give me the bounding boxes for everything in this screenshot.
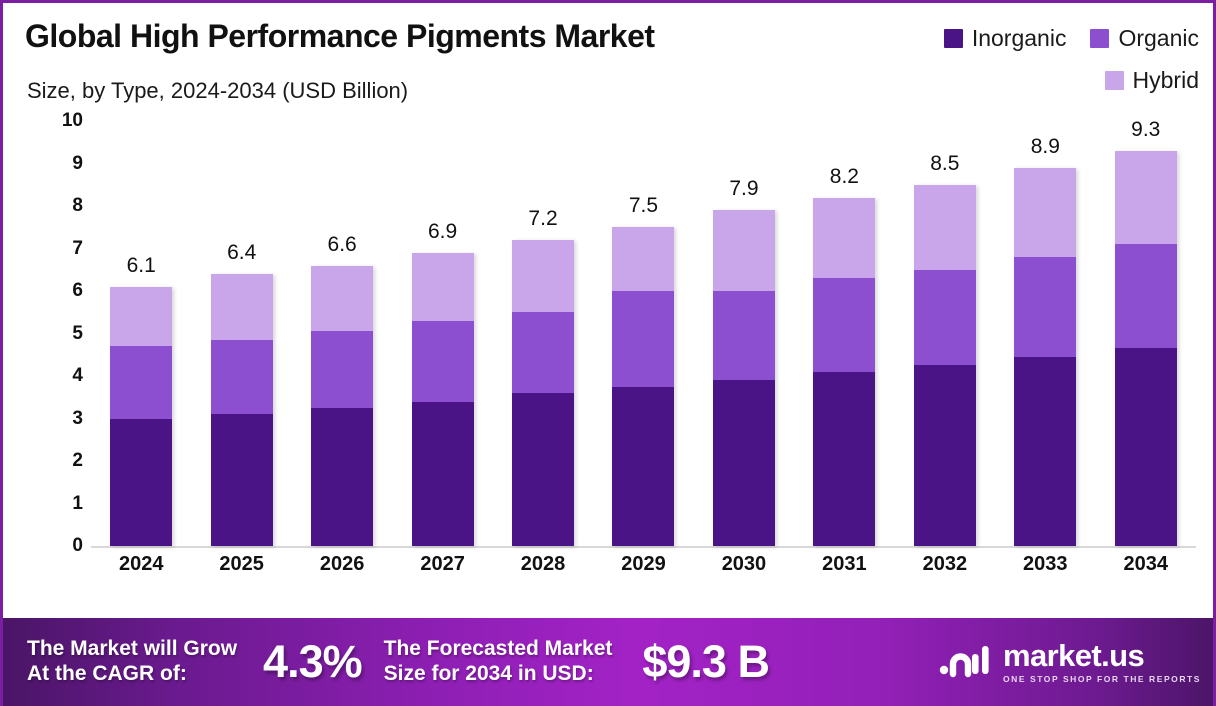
y-axis-tick-2: 2 [41,450,83,472]
legend-label: Hybrid [1133,67,1199,94]
logo-tagline: ONE STOP SHOP FOR THE REPORTS [1003,675,1201,684]
chart-legend: InorganicOrganicHybrid [869,23,1199,95]
y-axis-tick-3: 3 [41,408,83,430]
bar-total-label: 8.2 [830,165,859,189]
stacked-bar[interactable] [311,266,373,547]
stacked-bar[interactable] [612,227,674,546]
x-axis-tick-2031: 2031 [800,553,888,576]
bar-total-label: 6.9 [428,220,457,244]
market-us-bars-logo-icon [939,640,993,685]
cagr-label-line1: The Market will Grow [27,637,237,662]
x-axis-tick-2027: 2027 [399,553,487,576]
bar-segment-inorganic[interactable] [813,372,875,546]
forecast-label-line1: The Forecasted Market [384,637,613,662]
stacked-bar[interactable] [412,253,474,546]
bar-segment-organic[interactable] [311,331,373,408]
bar-segment-hybrid[interactable] [1014,168,1076,257]
bar-segment-inorganic[interactable] [512,393,574,546]
cagr-label: The Market will Grow At the CAGR of: [27,637,237,687]
bar-group-2028[interactable]: 7.2 [499,121,587,546]
legend-item-organic[interactable]: Organic [1090,23,1199,53]
stacked-bar[interactable] [1115,151,1177,546]
cagr-value: 4.3% [263,636,362,688]
bar-segment-organic[interactable] [211,340,273,414]
legend-swatch-hybrid-icon [1105,71,1124,90]
y-axis-tick-9: 9 [41,153,83,175]
bar-segment-inorganic[interactable] [713,380,775,546]
stacked-bar[interactable] [211,274,273,546]
y-axis-tick-5: 5 [41,323,83,345]
bar-segment-hybrid[interactable] [914,185,976,270]
legend-swatch-inorganic-icon [944,29,963,48]
stacked-bar[interactable] [813,198,875,547]
bar-segment-hybrid[interactable] [311,266,373,332]
legend-item-inorganic[interactable]: Inorganic [944,23,1067,53]
bar-total-label: 9.3 [1131,118,1160,142]
x-axis-tick-2034: 2034 [1102,553,1190,576]
x-axis-tick-2029: 2029 [599,553,687,576]
bar-total-label: 8.5 [930,152,959,176]
cagr-label-line2: At the CAGR of: [27,662,237,687]
bar-segment-inorganic[interactable] [612,387,674,546]
stacked-bar[interactable] [1014,168,1076,546]
bar-segment-organic[interactable] [110,346,172,418]
chart-subtitle: Size, by Type, 2024-2034 (USD Billion) [27,78,408,104]
infographic-chart-card: Global High Performance Pigments Market … [0,0,1216,706]
bar-segment-inorganic[interactable] [1014,357,1076,546]
y-axis-tick-6: 6 [41,280,83,302]
x-axis: 2024202520262027202820292030203120322033… [91,553,1196,576]
legend-swatch-organic-icon [1090,29,1109,48]
forecast-label: The Forecasted Market Size for 2034 in U… [384,637,613,687]
y-axis-tick-1: 1 [41,493,83,515]
bar-group-2026[interactable]: 6.6 [298,121,386,546]
footer-banner: The Market will Grow At the CAGR of: 4.3… [3,618,1216,706]
bar-segment-inorganic[interactable] [1115,348,1177,546]
bar-segment-inorganic[interactable] [412,402,474,547]
bar-segment-organic[interactable] [512,312,574,393]
bar-segment-inorganic[interactable] [311,408,373,546]
bar-segment-organic[interactable] [713,291,775,380]
bar-total-label: 6.4 [227,241,256,265]
x-axis-line [91,546,1196,548]
bar-segment-hybrid[interactable] [1115,151,1177,245]
y-axis: 109876543210 [41,121,83,546]
bar-segment-organic[interactable] [412,321,474,402]
bar-segment-organic[interactable] [813,278,875,372]
bar-segment-hybrid[interactable] [713,210,775,291]
bar-segment-inorganic[interactable] [914,365,976,546]
bar-segment-inorganic[interactable] [110,419,172,547]
bar-total-label: 6.1 [127,254,156,278]
x-axis-tick-2032: 2032 [901,553,989,576]
bar-group-2027[interactable]: 6.9 [399,121,487,546]
y-axis-tick-8: 8 [41,195,83,217]
bar-group-2034[interactable]: 9.3 [1102,121,1190,546]
bar-segment-hybrid[interactable] [813,198,875,279]
y-axis-tick-4: 4 [41,365,83,387]
legend-item-hybrid[interactable]: Hybrid [1105,65,1199,95]
y-axis-tick-7: 7 [41,238,83,260]
bar-segment-hybrid[interactable] [110,287,172,347]
bar-group-2024[interactable]: 6.1 [97,121,185,546]
bar-segment-organic[interactable] [612,291,674,387]
bar-series-container: 6.16.46.66.97.27.57.98.28.58.99.3 [91,121,1196,546]
x-axis-tick-2033: 2033 [1001,553,1089,576]
bar-segment-hybrid[interactable] [512,240,574,312]
page-title: Global High Performance Pigments Market [25,18,655,55]
stacked-bar[interactable] [512,240,574,546]
bar-total-label: 7.9 [729,177,758,201]
stacked-bar[interactable] [110,287,172,546]
legend-label: Organic [1118,25,1199,52]
bar-group-2029[interactable]: 7.5 [599,121,687,546]
bar-total-label: 7.2 [528,207,557,231]
bar-group-2031[interactable]: 8.2 [800,121,888,546]
x-axis-tick-2025: 2025 [198,553,286,576]
stacked-bar[interactable] [914,185,976,546]
y-axis-tick-10: 10 [41,110,83,132]
x-axis-tick-2030: 2030 [700,553,788,576]
bar-group-2030[interactable]: 7.9 [700,121,788,546]
bar-segment-hybrid[interactable] [211,274,273,340]
bar-total-label: 6.6 [328,233,357,257]
bar-segment-hybrid[interactable] [412,253,474,321]
forecast-value: $9.3 B [642,636,769,688]
bar-total-label: 7.5 [629,194,658,218]
bar-segment-organic[interactable] [914,270,976,366]
y-axis-tick-0: 0 [41,535,83,557]
bar-segment-inorganic[interactable] [211,414,273,546]
stacked-bar[interactable] [713,210,775,546]
bar-group-2032[interactable]: 8.5 [901,121,989,546]
logo-text-block: market.us ONE STOP SHOP FOR THE REPORTS [1003,640,1201,684]
x-axis-tick-2026: 2026 [298,553,386,576]
x-axis-tick-2028: 2028 [499,553,587,576]
bar-group-2033[interactable]: 8.9 [1001,121,1089,546]
legend-label: Inorganic [972,25,1067,52]
bar-segment-organic[interactable] [1115,244,1177,348]
market-us-logo[interactable]: market.us ONE STOP SHOP FOR THE REPORTS [939,640,1207,685]
logo-wordmark: market.us [1003,638,1144,673]
bar-total-label: 8.9 [1031,135,1060,159]
forecast-label-line2: Size for 2034 in USD: [384,662,613,687]
bar-segment-hybrid[interactable] [612,227,674,291]
x-axis-tick-2024: 2024 [97,553,185,576]
bar-group-2025[interactable]: 6.4 [198,121,286,546]
bar-segment-organic[interactable] [1014,257,1076,357]
chart-plot-area: 109876543210 6.16.46.66.97.27.57.98.28.5… [3,121,1216,601]
